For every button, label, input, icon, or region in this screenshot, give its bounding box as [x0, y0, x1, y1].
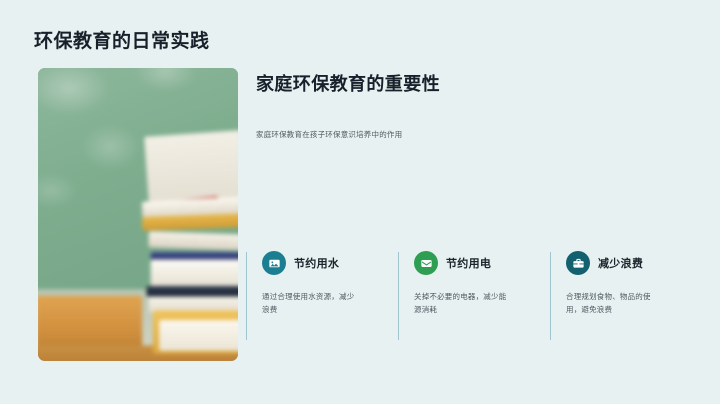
- book-stack-item: [159, 320, 238, 351]
- image-icon: [262, 251, 286, 275]
- section-subheading: 家庭环保教育在孩子环保意识培养中的作用: [256, 129, 402, 140]
- card-header: 节约用电: [414, 250, 550, 276]
- card-title: 节约用水: [294, 255, 339, 271]
- section-heading: 家庭环保教育的重要性: [256, 70, 440, 96]
- card-header: 节约用水: [262, 250, 398, 276]
- photo-content: [38, 68, 238, 361]
- card-body: 通过合理使用水资源，减少浪费: [262, 290, 358, 316]
- card-title: 节约用电: [446, 255, 491, 271]
- book-stack-item: [151, 260, 238, 288]
- classroom-photo: [38, 68, 238, 361]
- feature-card-electricity: 节约用电 关掉不必要的电器，减少能源消耗: [398, 250, 550, 316]
- card-header: 减少浪费: [566, 250, 702, 276]
- page-title: 环保教育的日常实践: [34, 26, 210, 53]
- slide: 环保教育的日常实践 家庭环保教育的重要性 家庭环保教育在孩子环保意识培养中的作用: [0, 0, 720, 404]
- book-stack-item: [144, 130, 238, 205]
- card-body: 合理规划食物、物品的使用，避免浪费: [566, 290, 662, 316]
- feature-card-waste: 减少浪费 合理规划食物、物品的使用，避免浪费: [550, 250, 702, 316]
- mail-icon: [414, 251, 438, 275]
- feature-card-list: 节约用水 通过合理使用水资源，减少浪费 节约用电 关掉不必要的电器，减少能源消耗: [246, 250, 702, 316]
- briefcase-icon: [566, 251, 590, 275]
- card-body: 关掉不必要的电器，减少能源消耗: [414, 290, 510, 316]
- book-stack-item: [146, 286, 238, 297]
- feature-card-water: 节约用水 通过合理使用水资源，减少浪费: [246, 250, 398, 316]
- card-title: 减少浪费: [598, 255, 643, 271]
